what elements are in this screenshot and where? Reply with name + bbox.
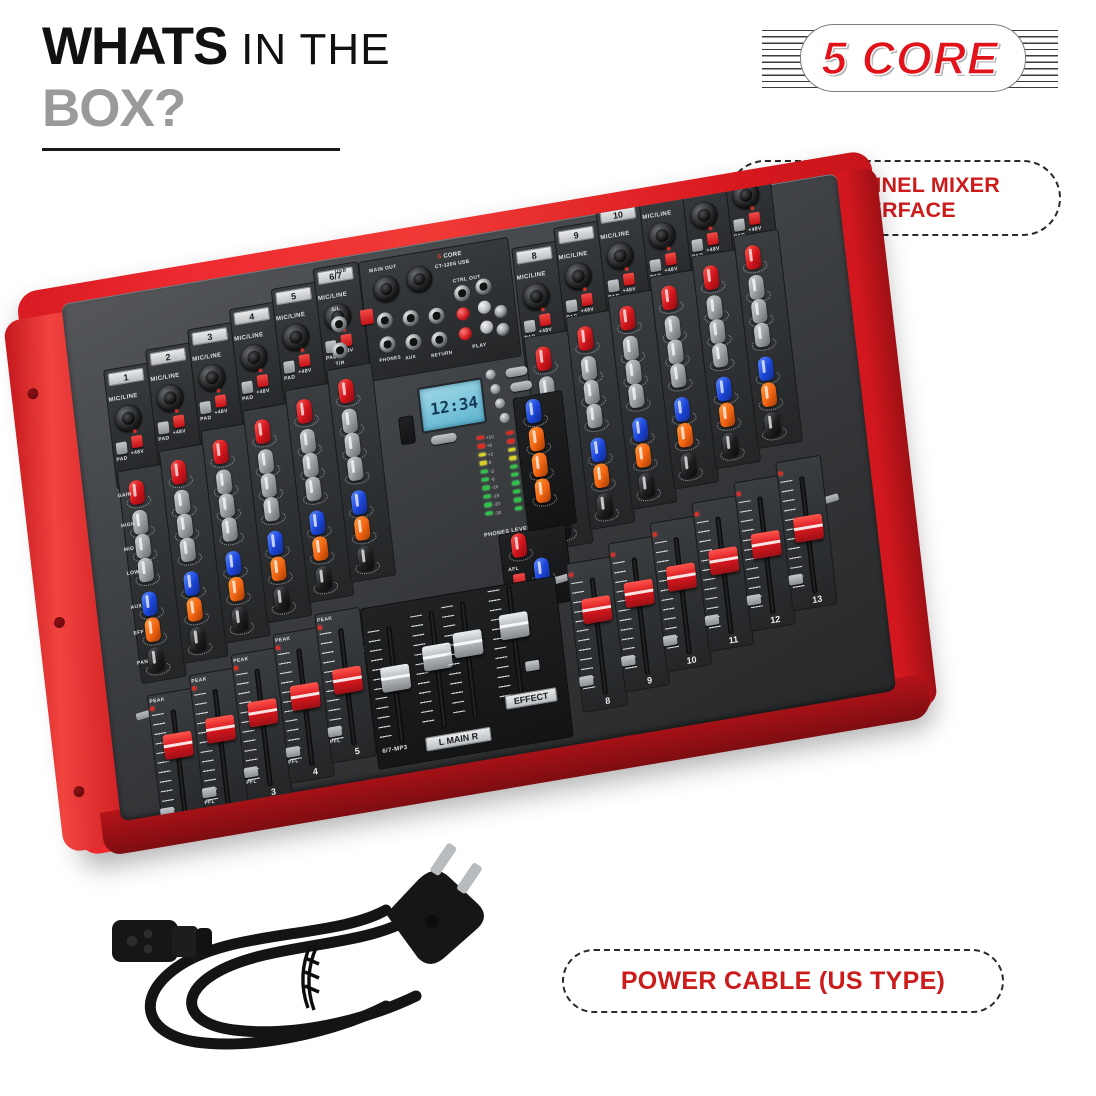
- knob-cap: [660, 285, 678, 311]
- knob-cap: [664, 314, 682, 340]
- knob-cap: [173, 489, 191, 515]
- knob-cap: [709, 318, 727, 344]
- knob-cap: [257, 448, 275, 474]
- rotary-knob-orange[interactable]: [144, 616, 164, 645]
- fader-cap[interactable]: [708, 546, 739, 576]
- rotary-knob-blue[interactable]: [673, 396, 693, 425]
- pad-button-11[interactable]: [649, 259, 661, 273]
- rotary-knob-red[interactable]: [660, 284, 680, 313]
- rotary-knob-orange[interactable]: [593, 462, 613, 491]
- chassis-screw: [73, 785, 85, 798]
- chassis-screw: [27, 387, 39, 400]
- rotary-knob-grey[interactable]: [711, 342, 731, 371]
- transport-button-prev[interactable]: [505, 365, 528, 378]
- meter-scale-label: -15: [492, 493, 499, 499]
- pad-button-8[interactable]: [524, 320, 536, 334]
- phantom-button-2[interactable]: [173, 414, 185, 428]
- phantom-button-11[interactable]: [665, 252, 677, 266]
- knob-cap: [270, 556, 288, 582]
- phantom-button-13[interactable]: [748, 212, 760, 226]
- mixer-body: 1MIC/LINEPAD+48V2MIC/LINEPAD+48V3MIC/LIN…: [35, 162, 916, 838]
- rotary-knob-red[interactable]: [535, 345, 555, 374]
- rotary-knob-orange[interactable]: [186, 596, 206, 625]
- rotary-knob-black[interactable]: [315, 565, 335, 594]
- knob-cap: [299, 428, 317, 454]
- knob-cap: [634, 442, 652, 468]
- knob-cap: [225, 550, 243, 576]
- meter-scale-label: -6: [490, 476, 495, 482]
- fader-cap[interactable]: [452, 629, 483, 659]
- rotary-knob-black[interactable]: [273, 585, 293, 614]
- rotary-knob-blue[interactable]: [631, 416, 651, 445]
- lcd-display: 12:34: [417, 377, 487, 434]
- knob-cap: [711, 342, 729, 368]
- rotary-knob-black[interactable]: [638, 472, 658, 501]
- fader-cap[interactable]: [666, 562, 697, 592]
- meter-scale-label: 0: [489, 460, 492, 465]
- rotary-knob-red[interactable]: [212, 438, 232, 467]
- logo-text: 5 CORE: [762, 22, 1058, 94]
- pad-button-2[interactable]: [157, 421, 169, 435]
- infographic-canvas: WHATS IN THE BOX? 5 CORE 12 CHANNEL MIXE…: [0, 0, 1096, 1096]
- knob-cap: [667, 338, 685, 364]
- phantom-button-4[interactable]: [257, 374, 269, 388]
- rotary-knob-grey[interactable]: [305, 475, 325, 504]
- knob-cap: [593, 462, 611, 488]
- transport-knob-next[interactable]: [495, 398, 506, 410]
- knob-cap: [534, 477, 552, 503]
- knob-cap: [231, 606, 249, 632]
- rotary-knob-orange[interactable]: [353, 515, 373, 544]
- rotary-knob-red[interactable]: [170, 458, 190, 487]
- pad-button-3[interactable]: [199, 401, 211, 415]
- knob-cap: [147, 646, 165, 672]
- knob-cap: [531, 452, 549, 478]
- rotary-knob-orange[interactable]: [531, 451, 551, 480]
- knob-cap: [296, 398, 314, 424]
- lcd-value: 12:34: [429, 392, 479, 419]
- rotary-knob-red[interactable]: [254, 418, 274, 447]
- knob-cap: [622, 335, 640, 361]
- knob-cap: [273, 585, 291, 611]
- rotary-knob-red[interactable]: [702, 264, 722, 293]
- rotary-knob-orange[interactable]: [228, 576, 248, 605]
- product-image-power-cable: [86, 818, 526, 1068]
- meter-scale-label: -20: [493, 501, 500, 507]
- pad-button-5[interactable]: [283, 360, 295, 374]
- fader-cap[interactable]: [205, 714, 236, 744]
- knob-cap: [580, 355, 598, 381]
- rotary-knob-grey[interactable]: [628, 382, 648, 411]
- title-underline: [42, 148, 340, 151]
- rotary-knob-black[interactable]: [147, 646, 167, 675]
- knob-cap: [577, 325, 595, 351]
- knob-cap: [722, 431, 740, 457]
- knob-cap: [179, 536, 197, 562]
- fader-cap[interactable]: [623, 579, 654, 609]
- pad-button-12[interactable]: [691, 238, 703, 252]
- knob-cap: [308, 509, 326, 535]
- rotary-knob-red[interactable]: [296, 398, 316, 427]
- knob-cap: [344, 431, 362, 457]
- knob-cap: [353, 515, 371, 541]
- phantom-button-5[interactable]: [298, 354, 310, 368]
- knob-cap: [673, 396, 691, 422]
- fader-cap[interactable]: [581, 595, 612, 625]
- rotary-knob-orange[interactable]: [270, 555, 290, 584]
- rotary-knob-red[interactable]: [619, 305, 639, 334]
- knob-cap: [764, 411, 782, 437]
- power-switch[interactable]: [360, 308, 375, 325]
- knob-cap: [134, 533, 152, 559]
- rotary-knob-red[interactable]: [510, 532, 530, 561]
- rotary-knob-grey[interactable]: [346, 455, 366, 484]
- phantom-button-10[interactable]: [623, 272, 635, 286]
- knob-cap: [744, 244, 762, 270]
- knob-cap: [757, 355, 775, 381]
- page-title: WHATS IN THE BOX?: [42, 18, 562, 151]
- knob-cap: [619, 305, 637, 331]
- product-image-mixer: 1MIC/LINEPAD+48V2MIC/LINEPAD+48V3MIC/LIN…: [60, 230, 940, 830]
- rotary-knob-black[interactable]: [764, 411, 784, 440]
- rotary-knob-blue[interactable]: [590, 436, 610, 465]
- knob-cap: [753, 322, 771, 348]
- rotary-knob-orange[interactable]: [760, 381, 780, 410]
- rotary-knob-orange[interactable]: [528, 425, 548, 454]
- chassis-screw: [53, 616, 65, 629]
- knob-cap: [669, 362, 687, 388]
- rotary-knob-red[interactable]: [744, 244, 764, 273]
- rotary-knob-blue[interactable]: [757, 355, 777, 384]
- knob-cap: [337, 378, 355, 404]
- knob-cap: [676, 422, 694, 448]
- fader-cap[interactable]: [498, 611, 529, 641]
- title-word-whats: WHATS: [42, 17, 227, 76]
- knob-cap: [341, 408, 359, 434]
- knob-cap: [305, 476, 323, 502]
- knob-cap: [715, 376, 733, 402]
- title-word-in-the: IN THE: [241, 25, 390, 74]
- knob-cap: [631, 416, 649, 442]
- transport-knob-prev[interactable]: [485, 369, 496, 381]
- knob-cap: [590, 437, 608, 463]
- rotary-knob-orange[interactable]: [718, 401, 738, 430]
- knob-cap: [718, 402, 736, 428]
- rotary-knob-black[interactable]: [722, 431, 742, 460]
- knob-cap: [215, 468, 233, 494]
- knob-cap: [702, 264, 720, 290]
- rotary-knob-grey[interactable]: [586, 402, 606, 431]
- pad-button-13[interactable]: [733, 218, 745, 232]
- knob-cap: [186, 596, 204, 622]
- transport-knob-mode[interactable]: [499, 412, 510, 424]
- knob-cap: [221, 516, 239, 542]
- knob-cap: [525, 398, 543, 424]
- fader-cap[interactable]: [750, 530, 781, 560]
- rotary-knob-red[interactable]: [577, 325, 597, 354]
- fader-cap[interactable]: [289, 682, 320, 712]
- meter-scale-label: -3: [489, 468, 494, 474]
- rotary-knob-blue[interactable]: [183, 570, 203, 599]
- knob-cap: [583, 379, 601, 405]
- knob-cap: [263, 496, 281, 522]
- knob-cap: [528, 426, 546, 452]
- meter-scale-label: +3: [488, 451, 494, 457]
- rotary-knob-blue[interactable]: [350, 489, 370, 518]
- knob-cap: [183, 570, 201, 596]
- knob-cap: [535, 345, 553, 371]
- meter-scale-label: +10: [486, 434, 494, 440]
- knob-cap: [311, 535, 329, 561]
- fader-cap[interactable]: [247, 698, 278, 728]
- knob-cap: [260, 472, 278, 498]
- title-line-1: WHATS IN THE: [42, 18, 562, 79]
- pad-button-10[interactable]: [607, 279, 619, 293]
- phantom-button-8[interactable]: [539, 313, 551, 327]
- rotary-knob-grey[interactable]: [263, 496, 283, 525]
- knob-cap: [638, 472, 656, 498]
- rotary-knob-black[interactable]: [596, 492, 616, 521]
- cable-tie: [303, 946, 319, 1010]
- rotary-knob-orange[interactable]: [311, 535, 331, 564]
- pad-button-9[interactable]: [566, 299, 578, 313]
- rotary-knob-black[interactable]: [357, 545, 377, 574]
- knob-cap: [141, 591, 159, 617]
- fader-cap[interactable]: [162, 731, 193, 761]
- knob-cap: [586, 403, 604, 429]
- knob-cap: [596, 492, 614, 518]
- fader-cap[interactable]: [380, 663, 411, 693]
- knob-cap: [628, 382, 646, 408]
- rotary-knob-grey[interactable]: [669, 362, 689, 391]
- rotary-knob-black[interactable]: [189, 626, 209, 655]
- rotary-knob-blue[interactable]: [267, 529, 287, 558]
- meter-scale-label: -30: [494, 509, 501, 515]
- knob-cap: [750, 298, 768, 324]
- knob-cap: [170, 459, 188, 485]
- knob-cap: [302, 452, 320, 478]
- rotary-knob-orange[interactable]: [676, 422, 696, 451]
- knob-cap: [144, 616, 162, 642]
- knob-cap: [680, 452, 698, 478]
- brand-logo: 5 CORE: [762, 22, 1058, 94]
- knob-cap: [189, 626, 207, 652]
- phantom-button-12[interactable]: [707, 232, 719, 246]
- knob-cap: [510, 532, 528, 558]
- rotary-knob-red[interactable]: [337, 377, 357, 406]
- rotary-knob-orange[interactable]: [634, 442, 654, 471]
- phantom-button-9[interactable]: [581, 293, 593, 307]
- knob-cap: [228, 576, 246, 602]
- transport-knob-play[interactable]: [490, 383, 501, 395]
- knob-cap: [254, 418, 272, 444]
- title-line-2: BOX?: [42, 81, 562, 137]
- usb-slot: [398, 415, 416, 445]
- rotary-knob-grey[interactable]: [179, 536, 199, 565]
- pad-button-4[interactable]: [241, 381, 253, 395]
- rotary-knob-blue[interactable]: [525, 397, 545, 426]
- knob-cap: [346, 455, 364, 481]
- knob-cap: [357, 545, 375, 571]
- rotary-knob-blue[interactable]: [308, 509, 328, 538]
- knob-cap: [748, 274, 766, 300]
- rotary-knob-black[interactable]: [231, 605, 251, 634]
- knob-cap: [706, 294, 724, 320]
- knob-cap: [212, 439, 230, 465]
- rotary-knob-blue[interactable]: [715, 375, 735, 404]
- meter-scale-label: +6: [487, 443, 493, 449]
- rotary-knob-black[interactable]: [680, 451, 700, 480]
- meter-scale-label: -10: [491, 484, 498, 490]
- phantom-button-1[interactable]: [131, 435, 143, 449]
- knob-cap: [625, 359, 643, 385]
- cable-us-plug: [386, 842, 484, 964]
- rotary-knob-blue[interactable]: [225, 550, 245, 579]
- knob-cap: [218, 492, 236, 518]
- phantom-button-3[interactable]: [215, 394, 227, 408]
- badge-power-cable: POWER CABLE (US TYPE): [562, 949, 1004, 1013]
- knob-cap: [350, 489, 368, 515]
- rotary-knob-blue[interactable]: [141, 590, 161, 619]
- knob-cap: [760, 381, 778, 407]
- knob-cap: [176, 513, 194, 539]
- rotary-knob-grey[interactable]: [137, 556, 157, 585]
- rotary-knob-grey[interactable]: [753, 321, 773, 350]
- knob-cap: [315, 565, 333, 591]
- rotary-knob-grey[interactable]: [221, 516, 241, 545]
- usb-play-button[interactable]: [430, 432, 457, 445]
- fader-cap[interactable]: [793, 513, 824, 543]
- knob-cap: [267, 530, 285, 556]
- pad-button-1[interactable]: [116, 441, 128, 455]
- knob-cap: [137, 557, 155, 583]
- fader-cap[interactable]: [332, 665, 363, 695]
- rotary-knob-orange[interactable]: [534, 477, 554, 506]
